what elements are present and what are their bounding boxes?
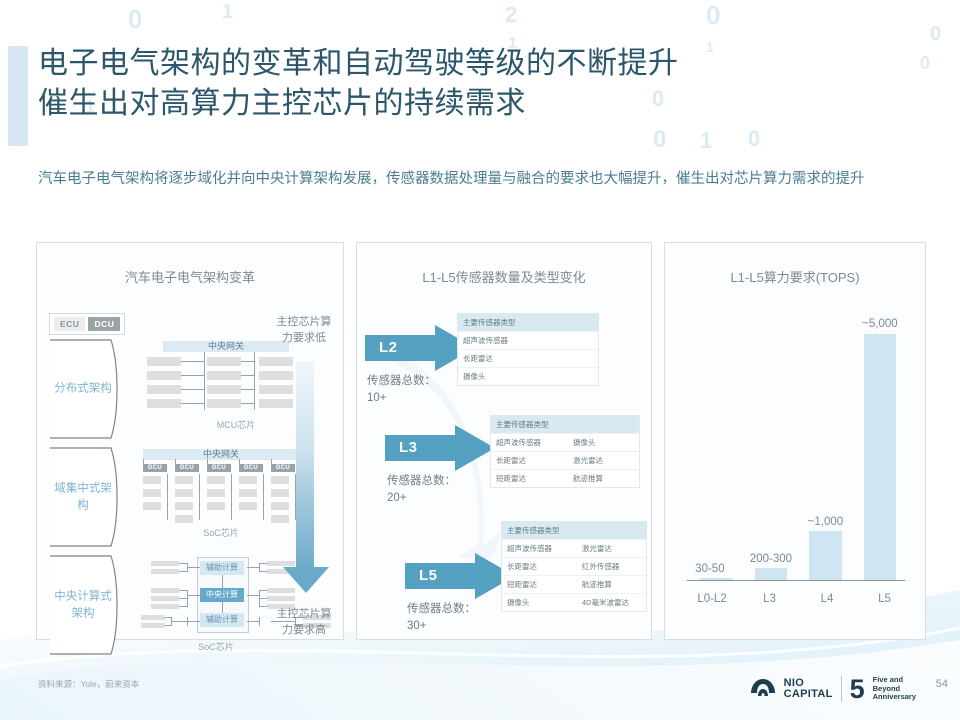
bus-line <box>167 474 168 520</box>
sub-block <box>175 489 193 497</box>
link <box>175 459 176 465</box>
bus-line <box>204 352 205 410</box>
link <box>259 563 267 564</box>
page-title-line1: 电子电气架构的变革和自动驾驶等级的不断提升 <box>38 44 908 84</box>
table-row: 超声波传感器激光雷达 <box>502 539 646 557</box>
x-axis <box>687 580 905 581</box>
arch-label-distributed-text: 分布式架构 <box>49 381 117 398</box>
panel-architecture-title: 汽车电子电气架构变革 <box>37 267 343 286</box>
page-subtitle: 汽车电子电气架构将逐步域化并向中央计算架构发展，传感器数据处理量与融合的要求也大… <box>38 168 928 192</box>
table-row: 短距雷达航迹推算 <box>491 469 639 487</box>
dcu-tag: DCU <box>175 464 199 472</box>
sub-block <box>207 476 225 484</box>
sub-block <box>143 502 161 510</box>
source-note: 资料来源：Yole，蔚来资本 <box>38 678 139 690</box>
link <box>241 361 255 362</box>
panel-sensors-title: L1-L5传感器数量及类型变化 <box>357 267 651 286</box>
link <box>241 403 255 404</box>
sensor-table-l3: 主要传感器类型 超声波传感器摄像头 长距雷达激光雷达 短距雷达航迹推算 <box>490 415 640 488</box>
link <box>259 563 260 572</box>
table-row: 超声波传感器摄像头 <box>491 433 639 451</box>
bus-line <box>231 474 232 520</box>
ecu-block <box>147 385 181 394</box>
sub-block <box>207 502 225 510</box>
sensor-block <box>151 588 179 593</box>
compute-demand-arrow <box>283 361 329 601</box>
link <box>247 567 259 568</box>
ecu-block <box>207 371 241 380</box>
ecu-block <box>207 399 241 408</box>
cell: 激光雷达 <box>577 540 646 557</box>
link <box>241 389 255 390</box>
sensor-block <box>141 623 165 628</box>
gateway-block-1: 中央网关 <box>163 341 289 352</box>
link <box>181 361 204 362</box>
legend-chip-ecu: ECU <box>54 317 85 331</box>
link <box>259 571 267 572</box>
link <box>179 563 187 564</box>
bus-line <box>263 474 264 520</box>
level-label-l2: L2 <box>379 339 398 356</box>
arch-label-distributed: 分布式架构 <box>49 339 127 439</box>
link <box>187 595 200 596</box>
sensor-count-l3: 传感器总数：20+ <box>387 473 467 508</box>
link <box>187 567 200 568</box>
panel-compute-chart-title: L1-L5算力要求(TOPS) <box>665 267 925 286</box>
xtick-l5: L5 <box>863 593 907 605</box>
table-row: 长距雷达激光雷达 <box>491 451 639 469</box>
sub-block <box>239 476 257 484</box>
link <box>247 595 259 596</box>
sub-block <box>175 476 193 484</box>
link <box>171 621 187 622</box>
table-row: 超声波传感器 <box>458 331 598 349</box>
link <box>187 590 188 607</box>
link <box>181 403 204 404</box>
legend-chip-dcu: DCU <box>88 317 120 331</box>
panel-container: 汽车电子电气架构变革 ECU DCU 分布式架构 中央网关 <box>36 242 926 640</box>
sensor-block <box>151 561 179 566</box>
dcu-tag: DCU <box>207 464 231 472</box>
table-row: 长距雷达 <box>458 349 598 367</box>
arch-label-central: 中央计算式架构 <box>49 555 127 655</box>
sub-block <box>239 502 257 510</box>
table-row: 摄像头4D毫米波雷达 <box>502 593 646 611</box>
bar-value-l5: ~5,000 <box>853 318 908 330</box>
panel-sensors: L1-L5传感器数量及类型变化 L2 传感器总数：10+ 主要传感器类型 超声波… <box>356 242 652 640</box>
sensor-count-l2: 传感器总数：10+ <box>367 373 447 408</box>
link <box>259 617 260 626</box>
sub-block <box>207 489 225 497</box>
panel-architecture: 汽车电子电气架构变革 ECU DCU 分布式架构 中央网关 <box>36 242 344 640</box>
cell: 航迹推算 <box>577 576 646 593</box>
sub-block <box>239 489 257 497</box>
xtick-l0l2: L0-L2 <box>690 593 734 605</box>
cell: 激光雷达 <box>568 452 639 469</box>
sensor-table-l5: 主要传感器类型 超声波传感器激光雷达 长距雷达红外传感器 短距雷达航迹推算 摄像… <box>501 521 647 612</box>
gateway-block-2: 中央网关 <box>143 449 299 460</box>
table-row: 长距雷达红外传感器 <box>502 557 646 575</box>
bus-line <box>199 474 200 520</box>
link <box>259 590 267 591</box>
bar-l4 <box>809 531 842 580</box>
sub-block <box>143 476 161 484</box>
link <box>181 389 204 390</box>
arrow-label-low: 主控芯片算力要求低 <box>275 315 333 347</box>
arch-label-central-text: 中央计算式架构 <box>49 588 117 621</box>
ecu-block <box>207 357 241 366</box>
link <box>181 375 204 376</box>
chart-plot-area: 30-50 200-300 ~1,000 ~5,000 <box>687 305 905 581</box>
cell: 长距雷达 <box>458 350 598 367</box>
sensor-block <box>151 569 179 574</box>
link <box>247 621 259 622</box>
aux-compute-top: 辅助计算 <box>200 561 244 575</box>
link <box>222 602 223 613</box>
table-header-l3: 主要传感器类型 <box>491 416 639 433</box>
link <box>241 375 255 376</box>
link <box>179 571 187 572</box>
link <box>187 621 200 622</box>
cell: 红外传感器 <box>577 558 646 575</box>
level-label-l5: L5 <box>419 567 438 584</box>
link <box>271 459 272 465</box>
nio-mark-icon <box>750 678 776 700</box>
panel-compute-chart: L1-L5算力要求(TOPS) 30-50 200-300 ~1,000 ~5,… <box>664 242 926 640</box>
cell: 摄像头 <box>458 368 598 385</box>
xtick-l4: L4 <box>805 593 849 605</box>
link <box>179 606 187 607</box>
cell: 超声波传感器 <box>502 540 577 557</box>
link <box>259 590 260 607</box>
cell: 摄像头 <box>502 594 577 611</box>
sensor-block <box>151 596 179 601</box>
bar-l5 <box>864 334 897 580</box>
cell: 短距雷达 <box>502 576 577 593</box>
sensor-block <box>151 604 179 609</box>
brand-name-line2: CAPITAL <box>784 689 833 700</box>
bar-value-l4: ~1,000 <box>798 516 853 528</box>
link <box>259 598 267 599</box>
bar-l3 <box>755 568 788 580</box>
aux-compute-bottom: 辅助计算 <box>200 613 244 627</box>
sensor-block <box>141 615 165 620</box>
main-compute: 中央计算 <box>200 588 244 602</box>
page-number: 54 <box>936 678 948 690</box>
bar-value-l0l2: 30-50 <box>685 563 735 575</box>
cell: 航迹推算 <box>568 470 639 487</box>
sensor-count-l5: 传感器总数：30+ <box>407 601 487 636</box>
sub-block <box>143 489 161 497</box>
table-row: 摄像头 <box>458 367 598 385</box>
sub-block <box>175 502 193 510</box>
level-group-l3: L3 传感器总数：20+ <box>385 425 505 505</box>
chip-note-soc-2: SoC芯片 <box>131 640 301 653</box>
brand-logo: NIO CAPITAL 5 Five and Beyond Anniversar… <box>750 672 916 706</box>
dcu-tag: DCU <box>143 464 167 472</box>
tops-bar-chart: 30-50 200-300 ~1,000 ~5,000 L0-L2 L3 L4 … <box>681 305 911 621</box>
xtick-l3: L3 <box>748 593 792 605</box>
sensor-table-l2: 主要传感器类型 超声波传感器 长距雷达 摄像头 <box>457 313 599 386</box>
sub-block <box>175 515 193 523</box>
cell: 4D毫米波雷达 <box>577 594 646 611</box>
link <box>239 459 240 465</box>
cell: 短距雷达 <box>491 470 568 487</box>
page-title-line2: 催生出对高算力主控芯片的持续需求 <box>38 84 908 124</box>
link <box>179 590 187 591</box>
table-header-l2: 主要传感器类型 <box>458 314 598 331</box>
anniversary-line3: Anniversary <box>873 693 916 702</box>
table-header-l5: 主要传感器类型 <box>502 522 646 539</box>
ecu-block <box>147 357 181 366</box>
link <box>222 575 223 588</box>
ecu-block <box>147 399 181 408</box>
logo-divider <box>841 676 842 702</box>
legend-ecu-dcu: ECU DCU <box>49 313 125 335</box>
cell: 摄像头 <box>568 434 639 451</box>
page-title: 电子电气架构的变革和自动驾驶等级的不断提升 催生出对高算力主控芯片的持续需求 <box>38 44 908 123</box>
table-row: 短距雷达航迹推算 <box>502 575 646 593</box>
level-label-l3: L3 <box>399 439 418 456</box>
anniversary-number: 5 <box>850 676 865 703</box>
ecu-block <box>147 371 181 380</box>
ecu-block <box>207 385 241 394</box>
link <box>259 606 267 607</box>
cell: 超声波传感器 <box>458 332 598 349</box>
link <box>143 459 144 465</box>
bar-value-l3: 200-300 <box>739 553 802 565</box>
dcu-tag: DCU <box>239 464 263 472</box>
cell: 超声波传感器 <box>491 434 568 451</box>
link <box>179 598 187 599</box>
bar-l0l2 <box>700 578 733 580</box>
title-accent-bar <box>8 46 28 146</box>
cell: 长距雷达 <box>491 452 568 469</box>
arch-label-domain: 域集中式架构 <box>49 447 127 547</box>
arch-label-domain-text: 域集中式架构 <box>49 480 117 513</box>
link <box>207 459 208 465</box>
cell: 长距雷达 <box>502 558 577 575</box>
arrow-label-high: 主控芯片算力要求高 <box>275 607 333 639</box>
